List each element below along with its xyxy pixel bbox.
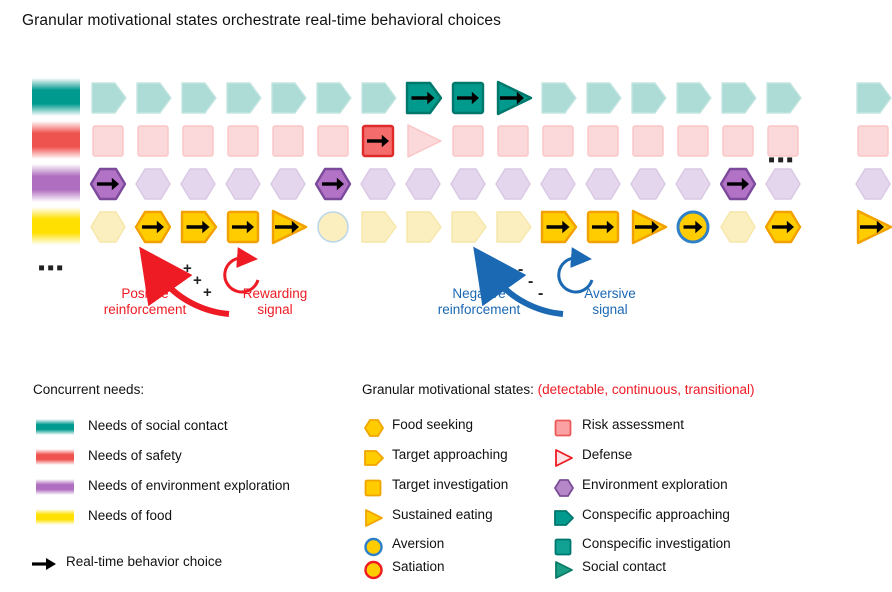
legend-shape-icon <box>553 448 575 468</box>
state-cell-risk-assessment[interactable] <box>673 121 713 161</box>
state-cell-sustained-eating[interactable] <box>628 207 668 247</box>
state-cell-risk-assessment[interactable] <box>313 121 353 161</box>
state-cell-risk-assessment[interactable] <box>133 121 173 161</box>
state-cell-conspecific-approaching[interactable] <box>853 78 892 118</box>
food-row <box>0 207 892 247</box>
legend-item-label: Needs of safety <box>88 448 182 463</box>
state-cell-conspecific-approaching[interactable] <box>673 78 713 118</box>
state-cell-risk-assessment[interactable] <box>448 121 488 161</box>
legend-shape-icon <box>553 560 575 580</box>
state-cell-environment-exploration[interactable] <box>853 164 892 204</box>
state-cell-conspecific-approaching[interactable] <box>538 78 578 118</box>
state-cell-environment-exploration[interactable] <box>403 164 443 204</box>
state-cell-conspecific-approaching[interactable] <box>313 78 353 118</box>
legend-shape-icon <box>363 418 385 438</box>
legend-shape-icon <box>363 560 385 580</box>
state-cell-environment-exploration[interactable] <box>358 164 398 204</box>
legend-shape-icon <box>553 508 575 528</box>
state-cell-food-seeking[interactable] <box>763 207 803 247</box>
arrow-right-icon <box>32 556 58 572</box>
legend-item-label: Defense <box>582 447 632 462</box>
state-cell-risk-assessment[interactable] <box>718 121 758 161</box>
state-cell-environment-exploration[interactable] <box>223 164 263 204</box>
legend-item-label: Social contact <box>582 559 666 574</box>
state-cell-environment-exploration[interactable] <box>583 164 623 204</box>
state-cell-risk-assessment[interactable] <box>223 121 263 161</box>
legend-shape-icon <box>553 537 575 557</box>
rewarding-signal-label: Rewarding signal <box>225 286 325 317</box>
legend-item-label: Conspecific investigation <box>582 536 731 551</box>
state-cell-target-approaching[interactable] <box>538 207 578 247</box>
legend-right-heading: Granular motivational states: (detectabl… <box>362 382 755 397</box>
legend-item-label: Needs of food <box>88 508 172 523</box>
rewarding-signal-line2: signal <box>225 302 325 318</box>
legend-color-chip <box>36 449 74 465</box>
state-cell-sustained-eating[interactable] <box>268 207 308 247</box>
legend-shape-icon <box>363 508 385 528</box>
state-cell-food-seeking[interactable] <box>88 207 128 247</box>
legend-item-label: Sustained eating <box>392 507 493 522</box>
state-cell-risk-assessment[interactable] <box>538 121 578 161</box>
rewarding-signal-line1: Rewarding <box>225 286 325 302</box>
state-cell-food-seeking[interactable] <box>133 207 173 247</box>
legend-item-label: Aversion <box>392 536 444 551</box>
state-cell-defense[interactable] <box>403 121 443 161</box>
state-cell-aversion[interactable] <box>313 207 353 247</box>
state-cell-aversion[interactable] <box>673 207 713 247</box>
state-cell-conspecific-approaching[interactable] <box>628 78 668 118</box>
state-cell-target-approaching[interactable] <box>493 207 533 247</box>
legend-item-label: Needs of environment exploration <box>88 478 290 493</box>
state-cell-conspecific-approaching[interactable] <box>358 78 398 118</box>
state-cell-environment-exploration[interactable] <box>88 164 128 204</box>
legend-shape-icon <box>363 448 385 468</box>
state-cell-conspecific-approaching[interactable] <box>403 78 443 118</box>
ellipsis-left: ▪▪▪ <box>38 258 65 278</box>
state-cell-conspecific-approaching[interactable] <box>88 78 128 118</box>
state-cell-risk-assessment[interactable] <box>88 121 128 161</box>
state-cell-target-investigation[interactable] <box>223 207 263 247</box>
plus-sign-1: + <box>183 261 192 276</box>
legend-item-label: Needs of social contact <box>88 418 228 433</box>
legend-shape-icon <box>553 478 575 498</box>
aversive-signal-label: Aversive signal <box>560 286 660 317</box>
legend-color-chip <box>36 419 74 435</box>
state-cell-target-approaching[interactable] <box>178 207 218 247</box>
positive-reinforcement-line2: reinforcement <box>90 302 200 318</box>
state-cell-environment-exploration[interactable] <box>538 164 578 204</box>
legend-behavior-choice-label: Real-time behavior choice <box>66 554 222 569</box>
state-cell-conspecific-approaching[interactable] <box>763 78 803 118</box>
legend-shape-icon <box>363 537 385 557</box>
legend-right-heading-note: (detectable, continuous, transitional) <box>538 382 755 397</box>
aversive-signal-line2: signal <box>560 302 660 318</box>
state-cell-conspecific-investigation[interactable] <box>448 78 488 118</box>
legend-item-label: Target investigation <box>392 477 508 492</box>
legend-item-label: Risk assessment <box>582 417 684 432</box>
state-cell-food-seeking[interactable] <box>718 207 758 247</box>
negative-reinforcement-line2: reinforcement <box>424 302 534 318</box>
state-cell-risk-assessment[interactable] <box>358 121 398 161</box>
legend-shape-icon <box>553 418 575 438</box>
state-cell-risk-assessment[interactable] <box>583 121 623 161</box>
plus-sign-3: + <box>203 285 212 300</box>
positive-reinforcement-label: Positive reinforcement <box>90 286 200 317</box>
state-cell-environment-exploration[interactable] <box>673 164 713 204</box>
state-cell-risk-assessment[interactable] <box>178 121 218 161</box>
environment-exploration-row <box>0 164 892 204</box>
legend-right-heading-main: Granular motivational states: <box>362 382 534 397</box>
legend-color-chip <box>36 479 74 495</box>
state-cell-conspecific-approaching[interactable] <box>178 78 218 118</box>
positive-reinforcement-line1: Positive <box>90 286 200 302</box>
minus-sign-3: - <box>538 286 543 302</box>
minus-sign-1: - <box>518 262 523 278</box>
state-cell-conspecific-approaching[interactable] <box>133 78 173 118</box>
state-cell-social-contact[interactable] <box>493 78 533 118</box>
social-contact-row <box>0 78 892 118</box>
state-cell-environment-exploration[interactable] <box>313 164 353 204</box>
negative-reinforcement-line1: Negative <box>424 286 534 302</box>
aversive-signal-line1: Aversive <box>560 286 660 302</box>
safety-row <box>0 121 892 161</box>
state-cell-environment-exploration[interactable] <box>718 164 758 204</box>
page-title: Granular motivational states orchestrate… <box>22 12 501 30</box>
state-cell-target-investigation[interactable] <box>583 207 623 247</box>
legend-item-label: Conspecific approaching <box>582 507 730 522</box>
state-cell-conspecific-approaching[interactable] <box>718 78 758 118</box>
state-cell-risk-assessment[interactable] <box>853 121 892 161</box>
state-cell-environment-exploration[interactable] <box>628 164 668 204</box>
state-cell-target-approaching[interactable] <box>403 207 443 247</box>
legend-item-label: Satiation <box>392 559 445 574</box>
ellipsis-right: ▪▪▪ <box>768 150 795 170</box>
state-cell-risk-assessment[interactable] <box>628 121 668 161</box>
legend-item-label: Target approaching <box>392 447 508 462</box>
state-cell-environment-exploration[interactable] <box>133 164 173 204</box>
state-cell-risk-assessment[interactable] <box>493 121 533 161</box>
state-cell-environment-exploration[interactable] <box>178 164 218 204</box>
state-cell-environment-exploration[interactable] <box>448 164 488 204</box>
state-cell-conspecific-approaching[interactable] <box>583 78 623 118</box>
state-cell-environment-exploration[interactable] <box>268 164 308 204</box>
state-cell-environment-exploration[interactable] <box>493 164 533 204</box>
state-cell-conspecific-approaching[interactable] <box>223 78 263 118</box>
legend-item-label: Food seeking <box>392 417 473 432</box>
negative-reinforcement-label: Negative reinforcement <box>424 286 534 317</box>
state-cell-target-approaching[interactable] <box>448 207 488 247</box>
legend-left-heading: Concurrent needs: <box>33 382 144 397</box>
legend-shape-icon <box>363 478 385 498</box>
state-cell-conspecific-approaching[interactable] <box>268 78 308 118</box>
legend-color-chip <box>36 509 74 525</box>
state-cell-target-approaching[interactable] <box>358 207 398 247</box>
state-cell-risk-assessment[interactable] <box>268 121 308 161</box>
legend-item-label: Environment exploration <box>582 477 728 492</box>
state-cell-sustained-eating[interactable] <box>853 207 892 247</box>
